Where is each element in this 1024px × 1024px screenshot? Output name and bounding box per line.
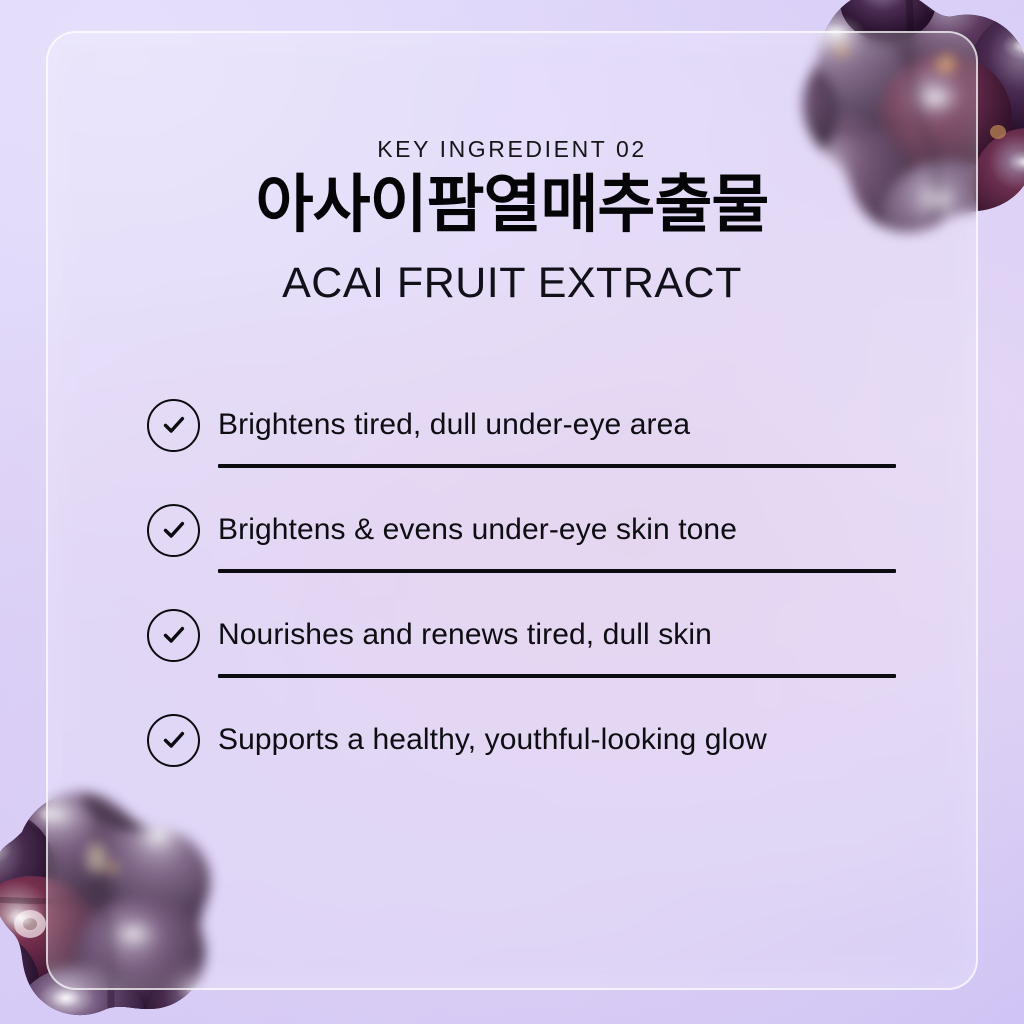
benefit-text: Brightens & evens under-eye skin tone xyxy=(218,513,737,547)
benefit-text: Brightens tired, dull under-eye area xyxy=(218,408,690,442)
benefit-list: Brightens tired, dull under-eye area Bri… xyxy=(147,396,887,816)
list-divider xyxy=(218,674,896,678)
list-divider xyxy=(218,464,896,468)
page-title-korean: 아사이팜열매추출물 xyxy=(0,170,1024,241)
page-title-english: ACAI FRUIT EXTRACT xyxy=(0,259,1024,308)
benefit-text: Nourishes and renews tired, dull skin xyxy=(218,618,712,652)
list-divider xyxy=(218,569,896,573)
check-circle-icon xyxy=(147,714,200,767)
eyebrow-label: KEY INGREDIENT 02 xyxy=(0,136,1024,163)
ingredient-info-card: KEY INGREDIENT 02 아사이팜열매추출물 ACAI FRUIT E… xyxy=(0,0,1024,1024)
list-item: Brightens & evens under-eye skin tone xyxy=(147,501,887,606)
check-circle-icon xyxy=(147,399,200,452)
list-item: Nourishes and renews tired, dull skin xyxy=(147,606,887,711)
list-item: Supports a healthy, youthful-looking glo… xyxy=(147,711,887,816)
benefit-text: Supports a healthy, youthful-looking glo… xyxy=(218,723,767,757)
check-circle-icon xyxy=(147,504,200,557)
check-circle-icon xyxy=(147,609,200,662)
list-item: Brightens tired, dull under-eye area xyxy=(147,396,887,501)
